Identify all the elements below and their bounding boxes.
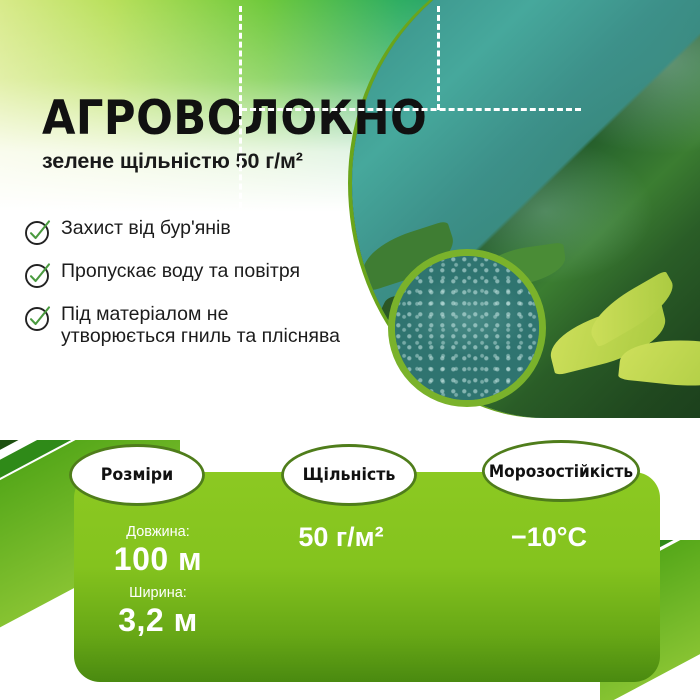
feature-list: Захист від бур'янів Пропускає воду та по… xyxy=(24,217,342,361)
length-label: Довжина: xyxy=(78,524,238,540)
infographic-page: АГРОВОЛОКНО зелене щільністю 50 г/м² Зах… xyxy=(0,0,700,700)
frost-resistance-value: −10°C xyxy=(444,522,654,553)
density-value: 50 г/м² xyxy=(246,522,436,553)
width-label: Ширина: xyxy=(78,585,238,601)
divider-vertical xyxy=(239,6,242,110)
spec-pill-density: Щільність xyxy=(281,444,417,506)
check-circle-icon xyxy=(24,218,52,246)
spec-pill-dimensions: Розміри xyxy=(69,444,205,506)
check-circle-icon xyxy=(24,261,52,289)
feature-label: Пропускає воду та повітря xyxy=(61,260,300,282)
density-cell: 50 г/м² xyxy=(246,522,436,553)
length-value: 100 м xyxy=(78,541,238,578)
dimensions-cell: Довжина: 100 м Ширина: 3,2 м xyxy=(78,524,238,646)
divider-horizontal xyxy=(241,108,581,111)
page-title: АГРОВОЛОКНО xyxy=(42,96,427,142)
check-circle-icon xyxy=(24,304,52,332)
width-value: 3,2 м xyxy=(78,602,238,639)
feature-label: Під матеріалом не утворюється гниль та п… xyxy=(61,303,342,347)
list-item: Захист від бур'янів xyxy=(24,217,342,246)
page-subtitle: зелене щільністю 50 г/м² xyxy=(42,149,461,174)
divider-vertical xyxy=(239,110,242,208)
water-droplets-on-fabric-photo xyxy=(395,256,539,400)
divider-vertical xyxy=(437,6,440,110)
frost-resistance-cell: −10°C xyxy=(444,522,654,553)
feature-label: Захист від бур'янів xyxy=(61,217,231,239)
list-item: Під матеріалом не утворюється гниль та п… xyxy=(24,303,342,347)
spec-pill-frost-resistance: Морозостійкість xyxy=(482,440,640,502)
list-item: Пропускає воду та повітря xyxy=(24,260,342,289)
water-droplets-inset xyxy=(388,249,546,407)
